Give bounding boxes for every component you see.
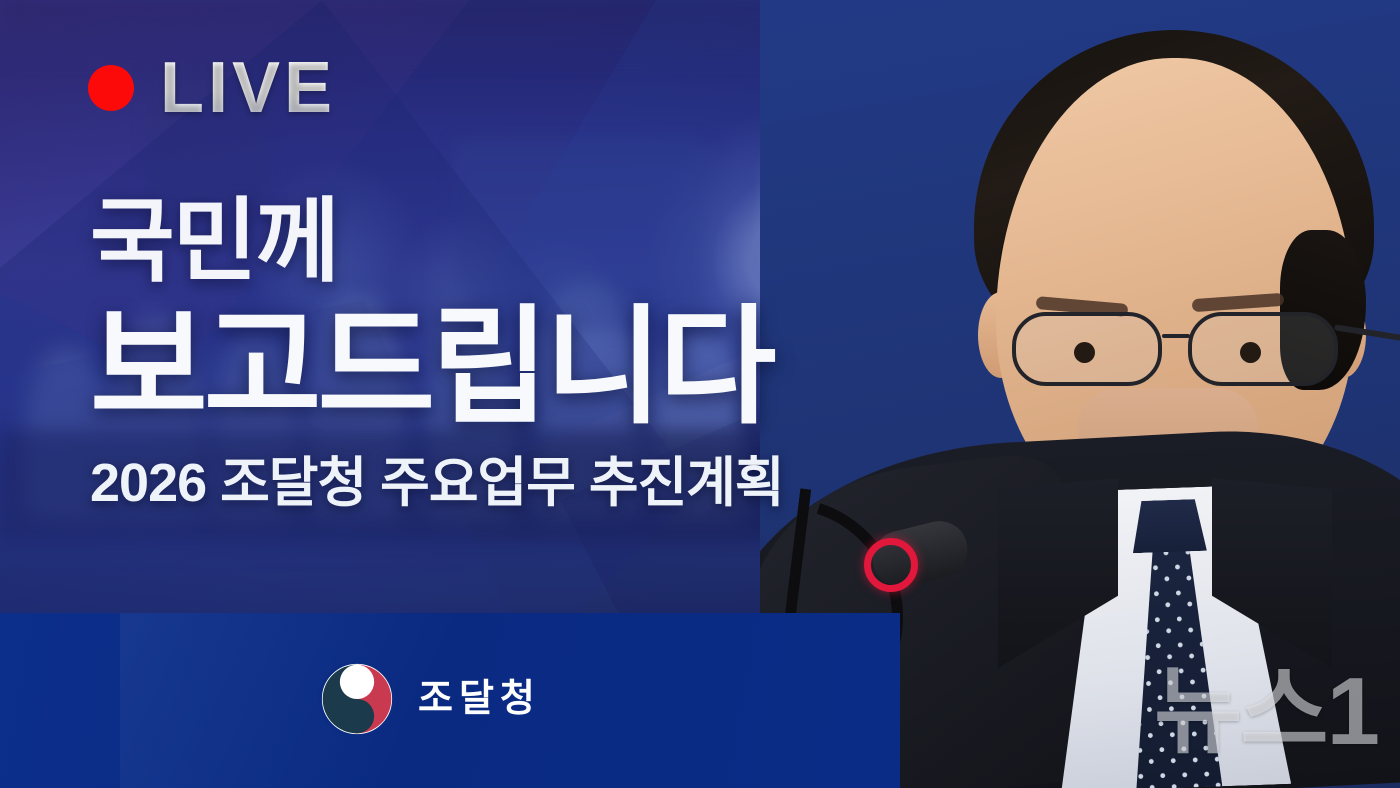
- speaker-necktie-knot: [1131, 499, 1207, 554]
- headline-subtitle: 2026 조달청 주요업무 추진계획: [90, 456, 900, 510]
- microphone-indicator-ring: [864, 538, 918, 592]
- eyeglasses-icon: [1012, 312, 1368, 390]
- live-badge: LIVE: [88, 52, 336, 124]
- headline-line-1: 국민께: [90, 196, 900, 290]
- headline-line-2: 보고드립니다: [90, 304, 900, 432]
- live-dot-icon: [88, 65, 134, 111]
- taegeuk-logo-icon: [318, 660, 396, 738]
- agency-branding: 조달청: [318, 660, 541, 738]
- broadcast-title-card: LIVE 국민께 보고드립니다 2026 조달청 주요업무 추진계획 조달청 뉴…: [0, 0, 1400, 788]
- live-label: LIVE: [160, 52, 336, 124]
- agency-name-label: 조달청: [418, 680, 541, 718]
- headline-block: 국민께 보고드립니다 2026 조달청 주요업무 추진계획: [90, 196, 900, 510]
